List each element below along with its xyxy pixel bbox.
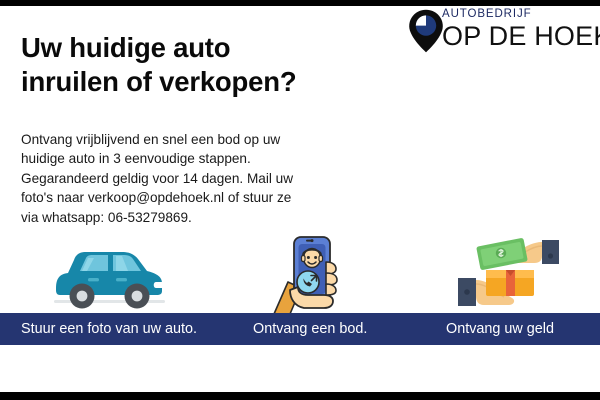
promo-banner: AUTOBEDRIJF OP DE HOEK Uw huidige auto i… [0, 0, 600, 400]
phone-in-hand-icon [268, 228, 358, 316]
body-copy-line-1: Ontvang vrijblijvend en snel een bod op … [21, 130, 351, 149]
brand-logo-text: AUTOBEDRIJF OP DE HOEK [442, 8, 600, 50]
body-copy-line-3: Gegarandeerd geldig voor 14 dagen. Mail … [21, 169, 351, 188]
letterbox-bar-top [0, 0, 600, 6]
brand-title: OP DE HOEK [442, 22, 600, 50]
letterbox-bar-bottom [0, 392, 600, 400]
steps-bar: Stuur een foto van uw auto. Ontvang een … [0, 313, 600, 345]
body-copy-line-4: foto's naar verkoop@opdehoek.nl of stuur… [21, 188, 351, 207]
brand-subtitle: AUTOBEDRIJF [442, 8, 600, 21]
body-copy: Ontvang vrijblijvend en snel een bod op … [21, 130, 351, 227]
body-copy-line-5: via whatsapp: 06-53279869. [21, 208, 351, 227]
step-label-2: Ontvang een bod. [253, 313, 367, 345]
money-exchange-icon [456, 228, 561, 316]
body-copy-line-2: huidige auto in 3 eenvoudige stappen. [21, 149, 351, 168]
headline-line-2: inruilen of verkopen? [21, 65, 421, 99]
step-label-1: Stuur een foto van uw auto. [21, 313, 197, 345]
headline-line-1: Uw huidige auto [21, 32, 230, 63]
step-icons-row [0, 228, 600, 316]
headline: Uw huidige auto inruilen of verkopen? [21, 31, 421, 99]
car-icon [52, 228, 167, 316]
step-label-3: Ontvang uw geld [446, 313, 554, 345]
brand-logo[interactable]: AUTOBEDRIJF OP DE HOEK [408, 8, 600, 56]
